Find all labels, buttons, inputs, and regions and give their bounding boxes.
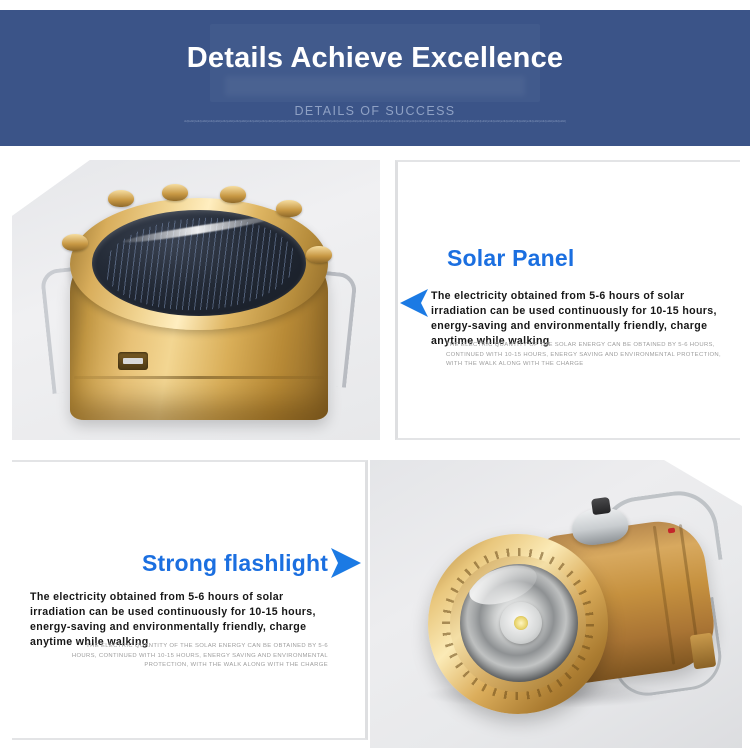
feature-section-solar-panel: Solar Panel The electricity obtained fro… <box>0 146 750 456</box>
feature-section-strong-flashlight: Strong flashlight The electricity obtain… <box>0 456 750 749</box>
led-emitter <box>500 602 542 644</box>
feature-title-strong-flashlight: Strong flashlight <box>142 550 328 577</box>
usb-port <box>118 352 148 370</box>
flashlight-head <box>428 534 608 714</box>
lantern-stud <box>306 246 332 263</box>
lantern-stud <box>162 184 188 201</box>
feature-body-solar-panel: The electricity obtained from 5-6 hours … <box>431 289 731 349</box>
decorative-micro-text: dsfjlsdkfjlsdkfjsdlkfjsldkfjsldkfjsdlkfj… <box>55 120 695 136</box>
lantern-top-illustration <box>48 180 348 435</box>
lantern-stud <box>62 234 88 251</box>
product-photo-strong-flashlight <box>370 460 742 748</box>
solar-panel-glass <box>92 210 306 316</box>
feature-caption-strong-flashlight: THE ELECTRIC QUANTITY OF THE SOLAR ENERG… <box>60 642 328 671</box>
feature-text-panel-solar-panel: Solar Panel The electricity obtained fro… <box>395 160 740 440</box>
arrow-left-icon <box>399 289 429 317</box>
feature-caption-solar-panel: THE ELECTRIC QUANTITY OF THE SOLAR ENERG… <box>446 341 736 370</box>
feature-body-strong-flashlight: The electricity obtained from 5-6 hours … <box>30 590 332 650</box>
lantern-body-ridge <box>74 376 324 379</box>
lantern-foot-tab <box>690 633 717 670</box>
lantern-stud <box>220 186 246 203</box>
lantern-stud <box>276 200 302 217</box>
banner-watermark-blur <box>225 76 525 96</box>
page-header-banner: Details Achieve Excellence DETAILS OF SU… <box>0 10 750 146</box>
page-subtitle: DETAILS OF SUCCESS <box>0 104 750 118</box>
power-knob <box>591 497 611 515</box>
arrow-right-icon <box>330 548 362 578</box>
lantern-stud <box>108 190 134 207</box>
flashlight-reflector <box>460 564 578 682</box>
feature-title-solar-panel: Solar Panel <box>447 245 574 272</box>
lantern-side-illustration <box>400 486 720 736</box>
product-photo-solar-panel <box>12 160 380 440</box>
feature-text-panel-strong-flashlight: Strong flashlight The electricity obtain… <box>12 460 368 740</box>
page-title: Details Achieve Excellence <box>0 42 750 75</box>
